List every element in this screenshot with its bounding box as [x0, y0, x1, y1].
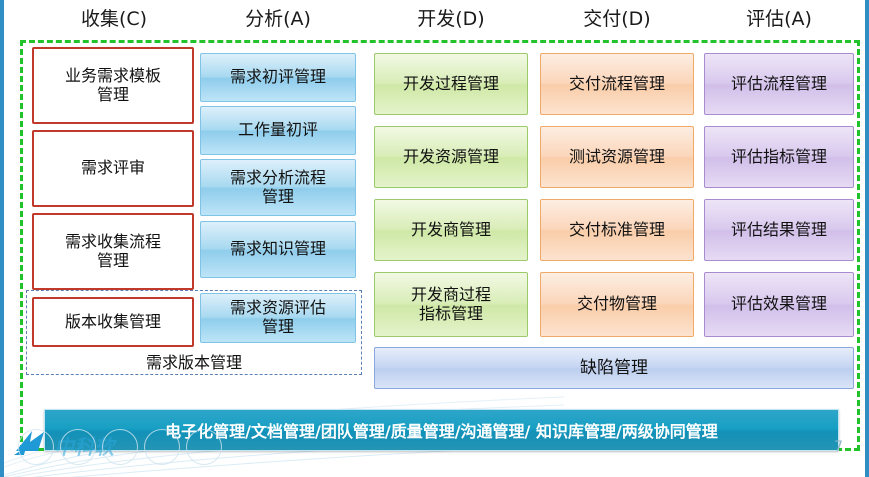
column-header-analysis: 分析(A) [200, 4, 356, 34]
card-analysis-0[interactable]: 需求初评管理 [200, 53, 356, 102]
card-development-0[interactable]: 开发过程管理 [374, 53, 528, 115]
column-header-evaluation: 评估(A) [704, 4, 854, 34]
page-number: 7 [834, 439, 843, 455]
column-header-collect: 收集(C) [34, 4, 194, 34]
card-development-2[interactable]: 开发商管理 [374, 199, 528, 261]
card-analysis-1[interactable]: 工作量初评 [200, 106, 356, 155]
decoration-circle-1 [18, 429, 54, 465]
card-evaluation-3[interactable]: 评估效果管理 [704, 272, 854, 337]
card-collect-1[interactable]: 需求评审 [32, 130, 194, 207]
decoration-circle-3 [102, 429, 138, 465]
card-evaluation-1[interactable]: 评估指标管理 [704, 126, 854, 188]
card-delivery-2[interactable]: 交付标准管理 [540, 199, 694, 261]
card-delivery-0[interactable]: 交付流程管理 [540, 53, 694, 115]
decoration-circle-5 [186, 429, 222, 465]
card-evaluation-2[interactable]: 评估结果管理 [704, 199, 854, 261]
column-headers: 收集(C) 分析(A) 开发(D) 交付(D) 评估(A) [4, 4, 869, 38]
card-analysis-3[interactable]: 需求知识管理 [200, 221, 356, 278]
card-analysis-2[interactable]: 需求分析流程 管理 [200, 159, 356, 216]
decoration-circle-4 [144, 429, 180, 465]
card-evaluation-0[interactable]: 评估流程管理 [704, 53, 854, 115]
column-header-development: 开发(D) [374, 4, 528, 34]
card-delivery-1[interactable]: 测试资源管理 [540, 126, 694, 188]
column-header-delivery: 交付(D) [540, 4, 694, 34]
card-collect-0[interactable]: 业务需求模板 管理 [32, 47, 194, 124]
version-management-group-label: 需求版本管理 [26, 349, 362, 373]
card-delivery-3[interactable]: 交付物管理 [540, 272, 694, 337]
card-development-1[interactable]: 开发资源管理 [374, 126, 528, 188]
card-collect-2[interactable]: 需求收集流程 管理 [32, 213, 194, 290]
logo-watermark: 中科软 [12, 421, 242, 467]
slide-canvas: 收集(C) 分析(A) 开发(D) 交付(D) 评估(A) 业务需求模板 管理 … [0, 0, 869, 477]
card-development-3[interactable]: 开发商过程 指标管理 [374, 272, 528, 337]
decoration-circle-2 [60, 429, 96, 465]
card-defect-management[interactable]: 缺陷管理 [374, 347, 854, 389]
